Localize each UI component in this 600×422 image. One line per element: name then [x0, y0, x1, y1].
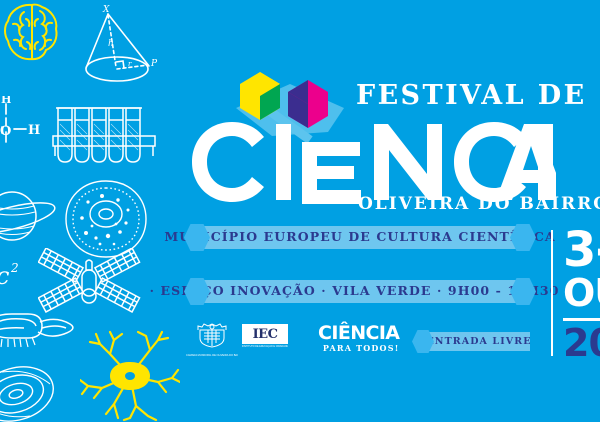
entrada-livre-badge: ENTRADA LIVRE [418, 332, 530, 351]
band-hex-left-icon [184, 278, 210, 305]
molecule-formula-icon: H O H [0, 96, 54, 148]
date-divider-rule [551, 230, 553, 356]
svg-text:O: O [0, 124, 11, 139]
svg-text:c: c [0, 262, 9, 290]
ciencia-para-todos-logo: CIÊNCIA PARA TODOS! [318, 324, 399, 352]
municipality-crest-logo: CÂMARA MUNICIPAL DE OLIVEIRA DO BAIRRO [186, 322, 238, 358]
galaxy-icon [0, 364, 58, 422]
event-date-block: 3- OU 20 [545, 218, 600, 368]
festival-logo-lockup: FESTIVAL DE [188, 60, 556, 220]
equation-c-squared-icon: c 2 [0, 258, 30, 290]
svg-text:H: H [1, 96, 11, 106]
iec-logo-box: IEC [242, 324, 288, 344]
crest-caption: CÂMARA MUNICIPAL DE OLIVEIRA DO BAIRRO [186, 354, 238, 358]
saturn-icon [0, 188, 58, 252]
cone-label-apex: X [102, 5, 110, 15]
festival-poster: X h r P H O H [0, 0, 600, 422]
brain-icon [2, 2, 64, 62]
iec-logo: IEC INSTITUTO DE EDUCAÇÃO E CIDADANIA MA… [242, 324, 288, 349]
date-day: 3- [563, 228, 600, 272]
ciencia-para-todos-sub: PARA TODOS! [318, 344, 399, 352]
band-local-text: · ESPAÇO INOVAÇÃO · VILA VERDE · 9H00 - … [150, 285, 571, 298]
band-municipio-europeu: MUNICÍPIO EUROPEU DE CULTURA CIENTÍFICA [190, 226, 530, 249]
band-municipio-text: MUNICÍPIO EUROPEU DE CULTURA CIENTÍFICA [164, 231, 555, 244]
cone-label-height: h [108, 39, 114, 49]
cell-icon [62, 178, 150, 260]
cone-label-point: P [150, 59, 158, 69]
cone-diagram-icon: X h r P [76, 4, 166, 88]
iec-caption: INSTITUTO DE EDUCAÇÃO E CIDADANIA MAMARR… [242, 345, 288, 349]
band-hex-right-icon [510, 224, 536, 251]
svg-text:H: H [28, 123, 40, 138]
band-hex-left-icon [184, 224, 210, 251]
festival-de-text: FESTIVAL DE [356, 82, 587, 109]
oliveira-do-bairro-text: OLIVEIRA DO BAIRRO [358, 196, 600, 213]
band-hex-right-icon [510, 278, 536, 305]
iec-label: IEC [253, 328, 278, 341]
test-tubes-icon [52, 104, 158, 170]
ciencia-para-todos-main: CIÊNCIA [318, 324, 399, 343]
bacterium-icon [0, 308, 80, 358]
satellite-icon [38, 248, 142, 320]
neuron-icon [80, 330, 180, 422]
band-local-horario: · ESPAÇO INOVAÇÃO · VILA VERDE · 9H00 - … [190, 280, 530, 303]
date-month: OU [563, 276, 600, 311]
date-year: 20 [563, 326, 600, 361]
cone-label-radius: r [128, 60, 132, 68]
svg-text:2: 2 [10, 261, 19, 275]
